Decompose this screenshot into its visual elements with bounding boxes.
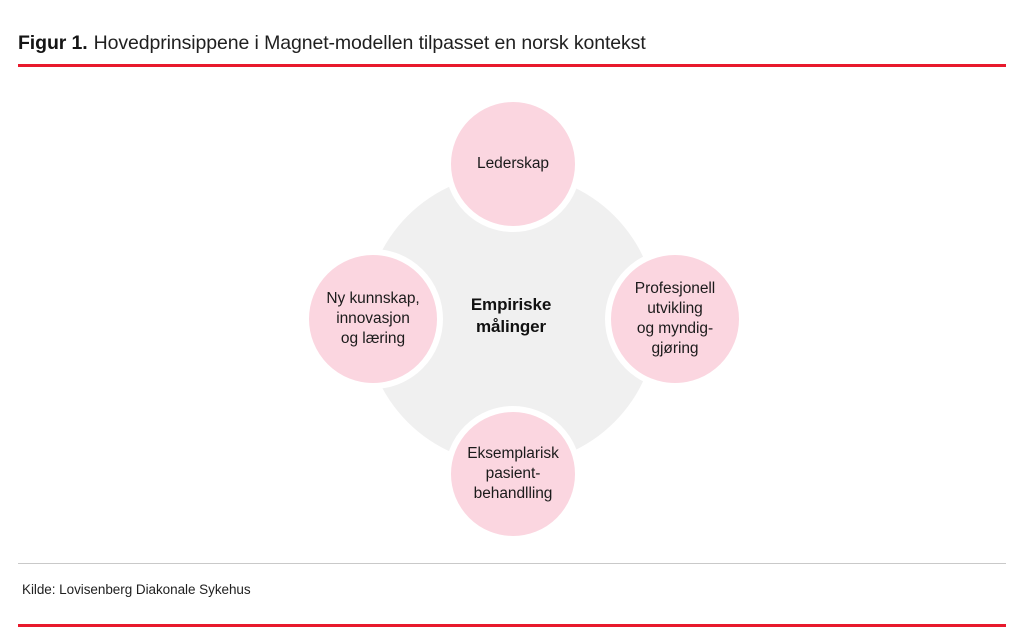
node-ny-kunnskap[interactable]: Ny kunnskap, innovasjon og læring — [303, 249, 443, 389]
node-profesjonell-utvikling-label: Profesjonell utvikling og myndig- gjørin… — [627, 279, 723, 360]
node-lederskap-label: Lederskap — [469, 154, 557, 174]
node-lederskap[interactable]: Lederskap — [445, 96, 581, 232]
figure-header: Figur 1. Hovedprinsippene i Magnet-model… — [18, 28, 1006, 58]
diagram-stage: Empiriske målinger Lederskap Profesjonel… — [18, 72, 1006, 552]
divider-grey-footer — [18, 563, 1006, 564]
figure-number-label: Figur 1. — [18, 32, 88, 55]
node-profesjonell-utvikling[interactable]: Profesjonell utvikling og myndig- gjørin… — [605, 249, 745, 389]
hub-label: Empiriske målinger — [421, 294, 601, 339]
diagram-area: Empiriske målinger Lederskap Profesjonel… — [18, 72, 1006, 552]
divider-red-bottom — [18, 624, 1006, 627]
source-note: Kilde: Lovisenberg Diakonale Sykehus — [22, 582, 251, 597]
node-ny-kunnskap-label: Ny kunnskap, innovasjon og læring — [318, 289, 427, 349]
divider-red-top — [18, 64, 1006, 67]
node-eksemplarisk-pasientbehandling-label: Eksemplarisk pasient- behandlling — [459, 444, 567, 504]
figure-card: Figur 1. Hovedprinsippene i Magnet-model… — [0, 0, 1024, 642]
node-eksemplarisk-pasientbehandling[interactable]: Eksemplarisk pasient- behandlling — [445, 406, 581, 542]
figure-title: Hovedprinsippene i Magnet-modellen tilpa… — [94, 32, 646, 55]
